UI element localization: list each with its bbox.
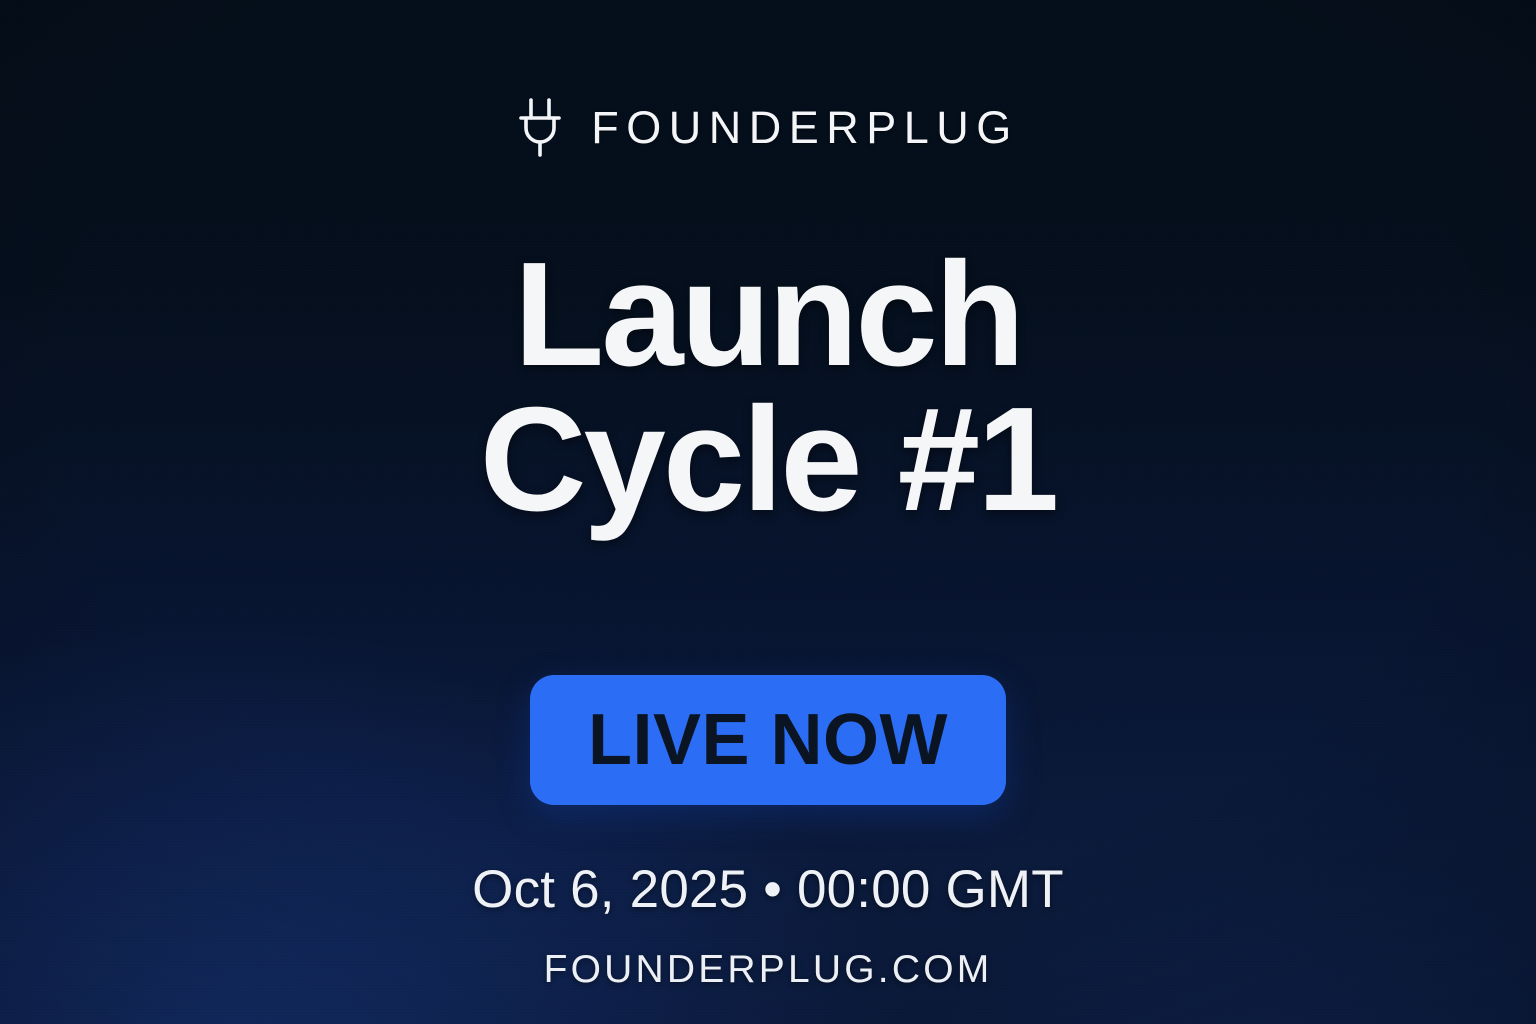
status-badge-label: LIVE NOW <box>588 704 948 776</box>
status-badge-live[interactable]: LIVE NOW <box>530 675 1006 805</box>
launch-announcement-poster: FOUNDERPLUG Launch Cycle #1 LIVE NOW Oct… <box>0 0 1536 1024</box>
plug-icon <box>517 96 563 158</box>
brand-lockup: FOUNDERPLUG <box>517 96 1019 158</box>
headline-line-1: Launch <box>480 242 1057 387</box>
brand-wordmark: FOUNDERPLUG <box>591 105 1019 150</box>
website-url: FOUNDERPLUG.COM <box>544 950 993 989</box>
headline-line-2: Cycle #1 <box>480 387 1057 532</box>
poster-content: FOUNDERPLUG Launch Cycle #1 LIVE NOW Oct… <box>0 0 1536 1024</box>
launch-datetime: Oct 6, 2025 • 00:00 GMT <box>472 863 1064 916</box>
page-title: Launch Cycle #1 <box>480 242 1057 532</box>
